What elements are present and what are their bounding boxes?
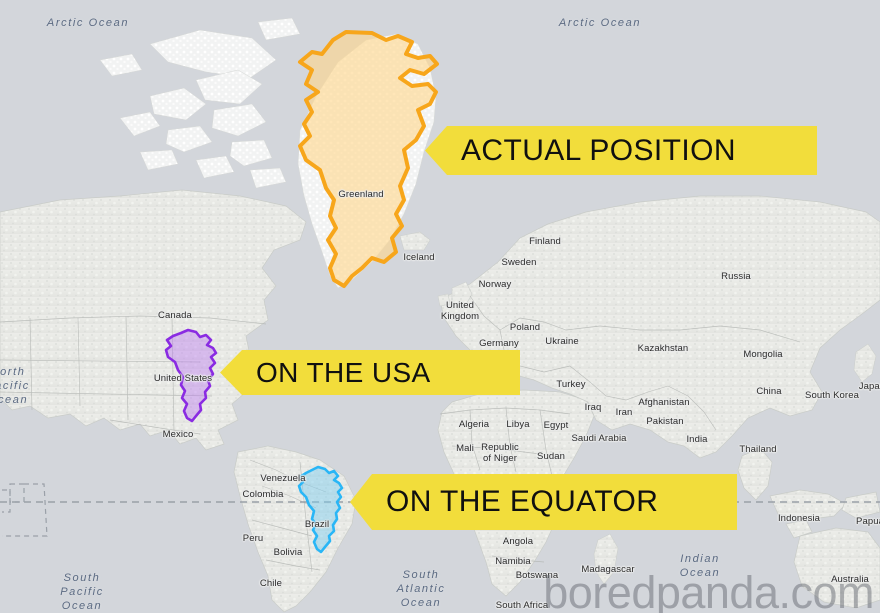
banner-on-the-equator: ON THE EQUATOR xyxy=(372,474,737,530)
banner-label-actual-position: ACTUAL POSITION xyxy=(461,136,736,166)
banner-label-on-the-usa: ON THE USA xyxy=(256,359,431,387)
arrow-left-tip-icon xyxy=(220,350,242,395)
arrow-left-tip-icon xyxy=(425,126,447,175)
map-infographic: Arctic OceanArctic OceanNorth Pacific Oc… xyxy=(0,0,880,613)
banner-label-on-the-equator: ON THE EQUATOR xyxy=(386,487,658,517)
banner-on-the-usa: ON THE USA xyxy=(242,350,520,395)
arrow-left-tip-icon xyxy=(350,474,372,530)
banner-actual-position: ACTUAL POSITION xyxy=(447,126,817,175)
